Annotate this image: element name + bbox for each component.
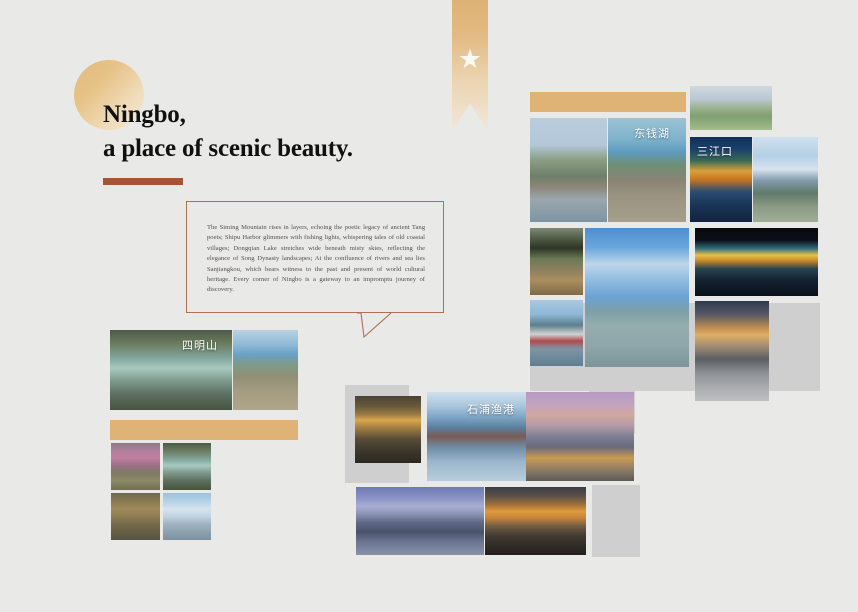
- label-dongqian-lake: 东钱湖: [634, 125, 670, 141]
- page-title-line-2: a place of scenic beauty.: [103, 132, 463, 166]
- photo-siming-lake[interactable]: [233, 330, 298, 410]
- photo-wetland[interactable]: [690, 86, 772, 130]
- title-accent-bar: [103, 178, 183, 185]
- photo-blue-bay[interactable]: [356, 487, 484, 555]
- photo-lake-ferry[interactable]: [530, 300, 583, 366]
- photo-snow-trees[interactable]: [163, 493, 211, 540]
- photo-sunset-lake[interactable]: [355, 396, 421, 463]
- description-text: The Siming Mountain rises in layers, ech…: [207, 223, 425, 296]
- photo-bridge-village[interactable]: [530, 118, 607, 222]
- photo-flower-field[interactable]: [111, 443, 160, 490]
- page-title: Ningbo, a place of scenic beauty.: [103, 98, 463, 166]
- photo-gorge-pool[interactable]: [163, 443, 211, 490]
- star-icon: ★: [457, 46, 483, 72]
- gold-band-left: [110, 420, 298, 440]
- photo-dusk-bridge[interactable]: [695, 301, 769, 401]
- page-title-line-1: Ningbo,: [103, 101, 186, 128]
- label-sanjiangkou: 三江口: [697, 143, 733, 159]
- photo-stone-pavilion[interactable]: [530, 228, 583, 295]
- backing-panel-bottom-far-right: [592, 485, 640, 557]
- label-shipu-harbor: 石浦渔港: [467, 401, 515, 417]
- photo-lake-statue[interactable]: [585, 228, 689, 367]
- description-callout: The Siming Mountain rises in layers, ech…: [186, 201, 444, 313]
- photo-bridge-night[interactable]: [695, 228, 818, 296]
- photo-autumn-hill[interactable]: [111, 493, 160, 540]
- photo-ningbo-skyline[interactable]: [753, 137, 818, 222]
- photo-pink-dusk-city[interactable]: [526, 392, 634, 481]
- poster-canvas: ★ Ningbo, a place of scenic beauty. The …: [0, 0, 858, 612]
- photo-orange-bay[interactable]: [485, 487, 586, 555]
- callout-tail-icon: [355, 312, 395, 338]
- gold-band-top: [530, 92, 686, 112]
- label-siming-mountain: 四明山: [182, 337, 218, 353]
